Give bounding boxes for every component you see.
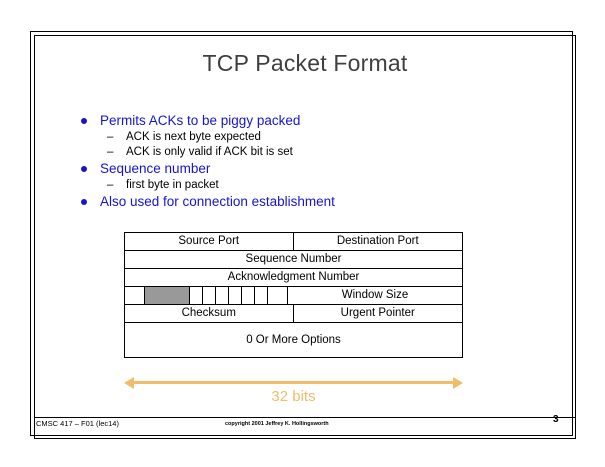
tcp-header-diagram: Source Port Destination Port Sequence Nu… bbox=[124, 232, 463, 358]
bullet-text: Permits ACKs to be piggy packed bbox=[100, 113, 300, 128]
footer-course-label: CMSC 417 – F01 (lec14) bbox=[36, 419, 119, 428]
flag-bit-cell bbox=[216, 287, 229, 304]
field-options: 0 Or More Options bbox=[125, 323, 462, 357]
field-data-offset bbox=[125, 287, 145, 304]
packet-row-options: 0 Or More Options bbox=[125, 323, 462, 357]
field-urgent-pointer: Urgent Pointer bbox=[294, 305, 463, 322]
dash-marker-icon: – bbox=[107, 145, 113, 160]
arrow-line bbox=[130, 381, 457, 384]
dash-marker-icon: – bbox=[107, 130, 113, 145]
field-checksum: Checksum bbox=[125, 305, 294, 322]
flag-bit-cell bbox=[229, 287, 242, 304]
flag-bit-group bbox=[125, 287, 288, 304]
bullet-item-level2: – ACK is only valid if ACK bit is set bbox=[78, 145, 508, 160]
footer-divider bbox=[35, 417, 575, 418]
dash-marker-icon: – bbox=[107, 178, 113, 193]
packet-row-ports: Source Port Destination Port bbox=[125, 233, 462, 251]
bullet-text: ACK is only valid if ACK bit is set bbox=[126, 146, 293, 158]
field-sequence-number: Sequence Number bbox=[125, 251, 462, 268]
bullet-item-level1: Also used for connection establishment bbox=[78, 193, 508, 210]
slide-canvas: TCP Packet Format Permits ACKs to be pig… bbox=[0, 0, 605, 467]
field-destination-port: Destination Port bbox=[294, 233, 463, 250]
bullet-item-level1: Sequence number bbox=[78, 160, 508, 177]
flag-bit-cell-tail bbox=[268, 287, 288, 304]
footer-copyright: copyright 2001 Jeffrey K. Hollingsworth bbox=[225, 421, 329, 427]
bullet-item-level2: – ACK is next byte expected bbox=[78, 130, 508, 145]
bullet-item-level2: – first byte in packet bbox=[78, 178, 508, 193]
bullet-text: first byte in packet bbox=[126, 179, 219, 191]
arrow-right-head-icon bbox=[453, 377, 463, 389]
field-source-port: Source Port bbox=[125, 233, 294, 250]
flag-bit-cell bbox=[203, 287, 216, 304]
bullet-text: ACK is next byte expected bbox=[126, 131, 261, 143]
bullet-dot-icon bbox=[81, 118, 87, 124]
flag-bit-cell bbox=[242, 287, 255, 304]
bullet-list: Permits ACKs to be piggy packed – ACK is… bbox=[78, 112, 508, 211]
packet-row-flags: Window Size bbox=[125, 287, 462, 305]
width-annotation: 32 bits bbox=[124, 375, 463, 405]
bullet-text: Also used for connection establishment bbox=[100, 194, 335, 209]
flag-bit-cell bbox=[255, 287, 268, 304]
footer-page-number: 3 bbox=[553, 414, 559, 425]
packet-row-checksum: Checksum Urgent Pointer bbox=[125, 305, 462, 323]
page-title: TCP Packet Format bbox=[40, 50, 570, 77]
bullet-dot-icon bbox=[81, 166, 87, 172]
width-label: 32 bits bbox=[124, 388, 463, 405]
flag-bit-cell bbox=[190, 287, 203, 304]
bullet-text: Sequence number bbox=[100, 161, 210, 176]
packet-row-acknowledgment: Acknowledgment Number bbox=[125, 269, 462, 287]
field-acknowledgment-number: Acknowledgment Number bbox=[125, 269, 462, 286]
bullet-item-level1: Permits ACKs to be piggy packed bbox=[78, 112, 508, 129]
field-window-size: Window Size bbox=[288, 287, 462, 304]
bullet-dot-icon bbox=[81, 199, 87, 205]
packet-row-sequence: Sequence Number bbox=[125, 251, 462, 269]
field-reserved-highlight bbox=[145, 287, 190, 304]
